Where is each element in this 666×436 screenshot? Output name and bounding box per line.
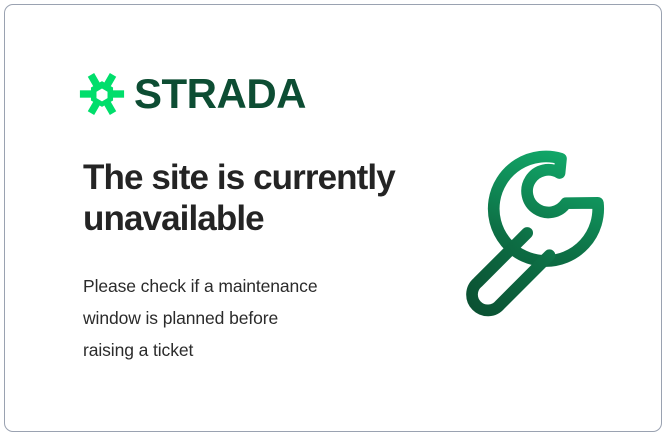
brand-logo: STRADA — [79, 71, 306, 117]
page-description: Please check if a maintenance window is … — [83, 270, 413, 367]
status-card: STRADA The site is currently unavailable… — [4, 4, 662, 432]
brand-wordmark: STRADA — [134, 73, 306, 115]
wrench-icon — [455, 150, 620, 320]
error-page: STRADA The site is currently unavailable… — [0, 0, 666, 436]
page-title: The site is currently unavailable — [83, 157, 413, 240]
message-block: The site is currently unavailable Please… — [83, 157, 413, 367]
description-line-2: window is planned before — [83, 302, 413, 334]
description-line-1: Please check if a maintenance — [83, 270, 413, 302]
asterisk-starburst-icon — [79, 71, 125, 117]
description-line-3: raising a ticket — [83, 334, 413, 366]
